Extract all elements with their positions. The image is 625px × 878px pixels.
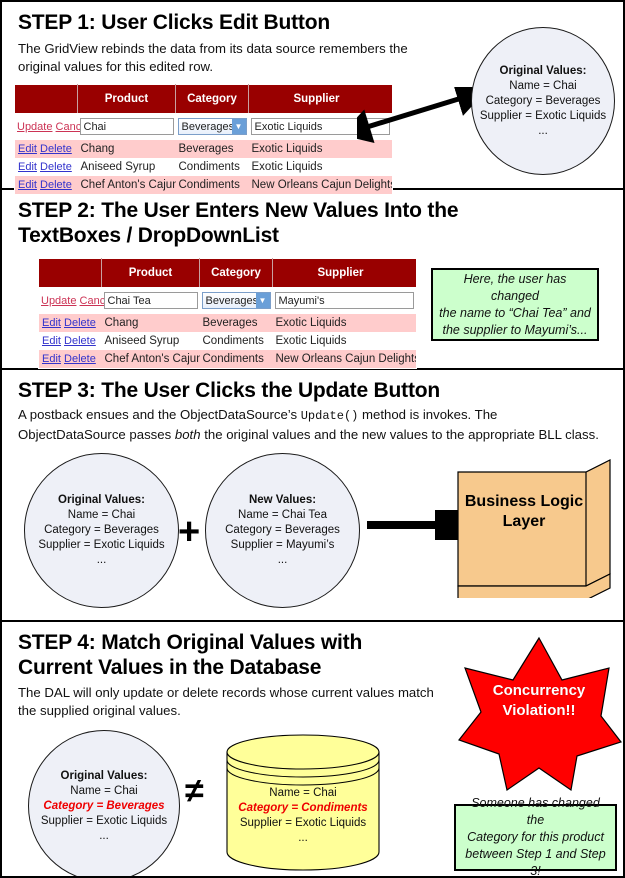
step-2-callout-line-2: the name to “Chai Tea” and (439, 305, 591, 322)
original-values-ellipse-step-3: Original Values: Name = Chai Category = … (24, 453, 179, 608)
star-label: Concurrency Violation!! (455, 681, 623, 721)
database-category-highlight: Category = Condiments (238, 802, 367, 814)
cell-product: Chef Anton's Cajun (102, 350, 200, 369)
cell-category: Beverages (176, 140, 249, 158)
step-1-panel: STEP 1: User Clicks Edit Button The Grid… (2, 2, 625, 190)
table-row[interactable]: Edit Delete Chang Beverages Exotic Liqui… (39, 314, 417, 332)
new-values-text: New Values: Name = Chai Tea Category = B… (225, 493, 340, 568)
new-values-name: Name = Chai Tea (238, 509, 327, 521)
supplier-textbox[interactable] (275, 292, 415, 309)
step-3-panel: STEP 3: The User Clicks the Update Butto… (2, 370, 625, 622)
original-values-text: Original Values: Name = Chai Category = … (480, 64, 606, 139)
step-2-title: STEP 2: The User Enters New Values Into … (18, 198, 488, 248)
bll-label-line-1: Business Logic (460, 492, 588, 512)
cell-supplier: New Orleans Cajun Delights (273, 350, 417, 369)
row-commands: Edit Delete (15, 140, 78, 158)
new-values-ellipse-step-3: New Values: Name = Chai Tea Category = B… (205, 453, 360, 608)
bll-label: Business Logic Layer (460, 492, 588, 532)
original-values-ellipsis: ... (99, 830, 109, 842)
category-dropdown[interactable]: Beverages ▼ (178, 118, 247, 135)
edit-link[interactable]: Edit (42, 317, 61, 329)
original-values-heading: Original Values: (500, 65, 587, 77)
table-row[interactable]: Edit Delete Chef Anton's Cajun Condiment… (39, 350, 417, 369)
cell-category: Condiments (176, 158, 249, 176)
step-2-callout-line-1: Here, the user has changed (439, 271, 591, 305)
edit-row-category-cell[interactable]: Beverages ▼ (200, 287, 273, 314)
step-4-callout-text: Someone has changed the Category for thi… (462, 795, 609, 878)
cell-supplier: Exotic Liquids (273, 332, 417, 350)
new-values-supplier: Supplier = Mayumi’s (231, 539, 335, 551)
row-commands: Edit Delete (39, 350, 102, 369)
row-commands: Edit Delete (15, 158, 78, 176)
new-values-ellipsis: ... (278, 554, 288, 566)
database-supplier: Supplier = Exotic Liquids (240, 817, 366, 829)
step-3-desc-b1: ObjectDataSource passes (18, 427, 175, 442)
edit-row-product-cell[interactable] (78, 113, 176, 140)
edit-row-product-cell[interactable] (102, 287, 200, 314)
chevron-down-icon[interactable]: ▼ (256, 293, 270, 308)
original-values-heading: Original Values: (61, 770, 148, 782)
product-textbox[interactable] (80, 118, 174, 135)
step-1-title: STEP 1: User Clicks Edit Button (18, 10, 330, 35)
step-1-description: The GridView rebinds the data from its d… (18, 40, 438, 75)
flow-arrow-to-bll (365, 510, 461, 540)
original-values-category: Category = Beverages (44, 524, 159, 536)
table-row[interactable]: Edit Delete Chang Beverages Exotic Liqui… (15, 140, 393, 158)
original-values-text: Original Values: Name = Chai Category = … (38, 493, 164, 568)
product-textbox[interactable] (104, 292, 198, 309)
database-cylinder: Name = Chai Category = Condiments Suppli… (224, 734, 382, 874)
category-dropdown-value: Beverages (182, 121, 235, 133)
delete-link[interactable]: Delete (64, 317, 96, 329)
double-headed-arrow-step-1 (357, 87, 487, 147)
column-header-commands (15, 85, 78, 114)
edit-link[interactable]: Edit (42, 335, 61, 347)
cell-product: Chang (102, 314, 200, 332)
column-header-product: Product (102, 259, 200, 288)
gridview-edit-row[interactable]: Update Cancel Beverages ▼ (15, 113, 393, 140)
step-4-panel: STEP 4: Match Original Values with Curre… (2, 622, 625, 878)
edit-link[interactable]: Edit (18, 143, 37, 155)
step-4-title-line-2: Current Values in the Database (18, 655, 458, 680)
gridview-header-row: Product Category Supplier (15, 85, 393, 114)
edit-link[interactable]: Edit (42, 353, 61, 365)
edit-row-supplier-cell[interactable] (273, 287, 417, 314)
original-values-name: Name = Chai (509, 80, 576, 92)
original-values-heading: Original Values: (58, 494, 145, 506)
step-2-title-line-2: TextBoxes / DropDownList (18, 223, 488, 248)
concurrency-diagram: STEP 1: User Clicks Edit Button The Grid… (0, 0, 625, 878)
database-name: Name = Chai (269, 787, 336, 799)
step-3-description: A postback ensues and the ObjectDataSour… (18, 406, 618, 443)
column-header-category: Category (176, 85, 249, 114)
column-header-supplier: Supplier (273, 259, 417, 288)
cell-product: Aniseed Syrup (78, 158, 176, 176)
original-values-name: Name = Chai (68, 509, 135, 521)
original-values-category-highlight: Category = Beverages (43, 800, 164, 812)
step-2-callout-text: Here, the user has changed the name to “… (439, 271, 591, 339)
original-values-supplier: Supplier = Exotic Liquids (480, 110, 606, 122)
new-values-category: Category = Beverages (225, 524, 340, 536)
step-3-desc-a2: method is invokes. The (358, 407, 497, 422)
cell-category: Condiments (200, 350, 273, 369)
table-row[interactable]: Edit Delete Aniseed Syrup Condiments Exo… (39, 332, 417, 350)
database-ellipsis: ... (298, 832, 308, 844)
star-label-line-2: Violation!! (455, 701, 623, 721)
category-dropdown-value: Beverages (206, 295, 259, 307)
step-3-desc-line-2: ObjectDataSource passes both the origina… (18, 426, 618, 444)
cell-product: Aniseed Syrup (102, 332, 200, 350)
plus-icon: + (178, 513, 200, 551)
edit-row-commands: Update Cancel (39, 287, 102, 314)
step-3-desc-a1: A postback ensues and the ObjectDataSour… (18, 407, 301, 422)
delete-link[interactable]: Delete (40, 161, 72, 173)
step-4-title: STEP 4: Match Original Values with Curre… (18, 630, 458, 680)
original-values-supplier: Supplier = Exotic Liquids (38, 539, 164, 551)
step-4-title-line-1: STEP 4: Match Original Values with (18, 630, 458, 655)
column-header-category: Category (200, 259, 273, 288)
step-2-callout-line-3: the supplier to Mayumi’s... (439, 322, 591, 339)
cell-supplier: Exotic Liquids (249, 158, 393, 176)
cell-product: Chang (78, 140, 176, 158)
database-values-text: Name = Chai Category = Condiments Suppli… (224, 786, 382, 846)
edit-row-commands: Update Cancel (15, 113, 78, 140)
original-values-ellipse-step-1: Original Values: Name = Chai Category = … (471, 27, 615, 175)
category-dropdown[interactable]: Beverages ▼ (202, 292, 271, 309)
delete-link[interactable]: Delete (40, 143, 72, 155)
step-1-desc-line-1: The GridView rebinds the data from its d… (18, 40, 438, 58)
delete-link[interactable]: Delete (64, 335, 96, 347)
original-values-ellipsis: ... (538, 125, 548, 137)
gridview-edit-row[interactable]: Update Cancel Beverages ▼ (39, 287, 417, 314)
gridview-step-2[interactable]: Product Category Supplier Update Cancel … (38, 258, 417, 369)
concurrency-violation-star: Concurrency Violation!! (455, 634, 623, 794)
row-commands: Edit Delete (39, 314, 102, 332)
row-commands: Edit Delete (39, 332, 102, 350)
business-logic-layer-box: Business Logic Layer (454, 458, 612, 598)
new-values-heading: New Values: (249, 494, 316, 506)
step-4-callout-box: Someone has changed the Category for thi… (454, 804, 617, 871)
step-4-callout-line-2: Category for this product (462, 829, 609, 846)
chevron-down-icon[interactable]: ▼ (232, 119, 246, 134)
edit-link[interactable]: Edit (18, 161, 37, 173)
step-4-desc-line-2: the supplied original values. (18, 702, 468, 720)
original-values-category: Category = Beverages (486, 95, 601, 107)
original-values-name: Name = Chai (70, 785, 137, 797)
step-2-callout-box: Here, the user has changed the name to “… (431, 268, 599, 341)
table-row[interactable]: Edit Delete Aniseed Syrup Condiments Exo… (15, 158, 393, 176)
step-1-desc-line-2: original values for this edited row. (18, 58, 438, 76)
column-header-commands (39, 259, 102, 288)
cell-category: Condiments (200, 332, 273, 350)
step-4-desc-line-1: The DAL will only update or delete recor… (18, 684, 468, 702)
step-3-desc-b2: the original values and the new values t… (201, 427, 599, 442)
original-values-ellipse-step-4: Original Values: Name = Chai Category = … (28, 730, 180, 878)
step-3-desc-emphasis: both (175, 427, 201, 442)
original-values-text: Original Values: Name = Chai Category = … (41, 769, 167, 844)
star-label-line-1: Concurrency (455, 681, 623, 701)
step-3-desc-line-1: A postback ensues and the ObjectDataSour… (18, 406, 618, 426)
cell-supplier: Exotic Liquids (273, 314, 417, 332)
bll-label-line-2: Layer (460, 512, 588, 532)
gridview-header-row: Product Category Supplier (39, 259, 417, 288)
original-values-ellipsis: ... (97, 554, 107, 566)
gridview-step-1[interactable]: Product Category Supplier Update Cancel … (14, 84, 393, 195)
update-link[interactable]: Update (17, 121, 52, 133)
not-equal-icon: ≠ (185, 774, 204, 808)
step-4-description: The DAL will only update or delete recor… (18, 684, 468, 719)
step-2-title-line-1: STEP 2: The User Enters New Values Into … (18, 198, 488, 223)
column-header-product: Product (78, 85, 176, 114)
step-4-callout-line-3: between Step 1 and Step 3! (462, 846, 609, 878)
update-link[interactable]: Update (41, 295, 76, 307)
step-4-callout-line-1: Someone has changed the (462, 795, 609, 829)
step-3-desc-code: Update() (301, 409, 359, 423)
step-3-title: STEP 3: The User Clicks the Update Butto… (18, 378, 440, 403)
step-2-panel: STEP 2: The User Enters New Values Into … (2, 190, 625, 370)
cell-category: Beverages (200, 314, 273, 332)
edit-row-category-cell[interactable]: Beverages ▼ (176, 113, 249, 140)
delete-link[interactable]: Delete (64, 353, 96, 365)
original-values-supplier: Supplier = Exotic Liquids (41, 815, 167, 827)
